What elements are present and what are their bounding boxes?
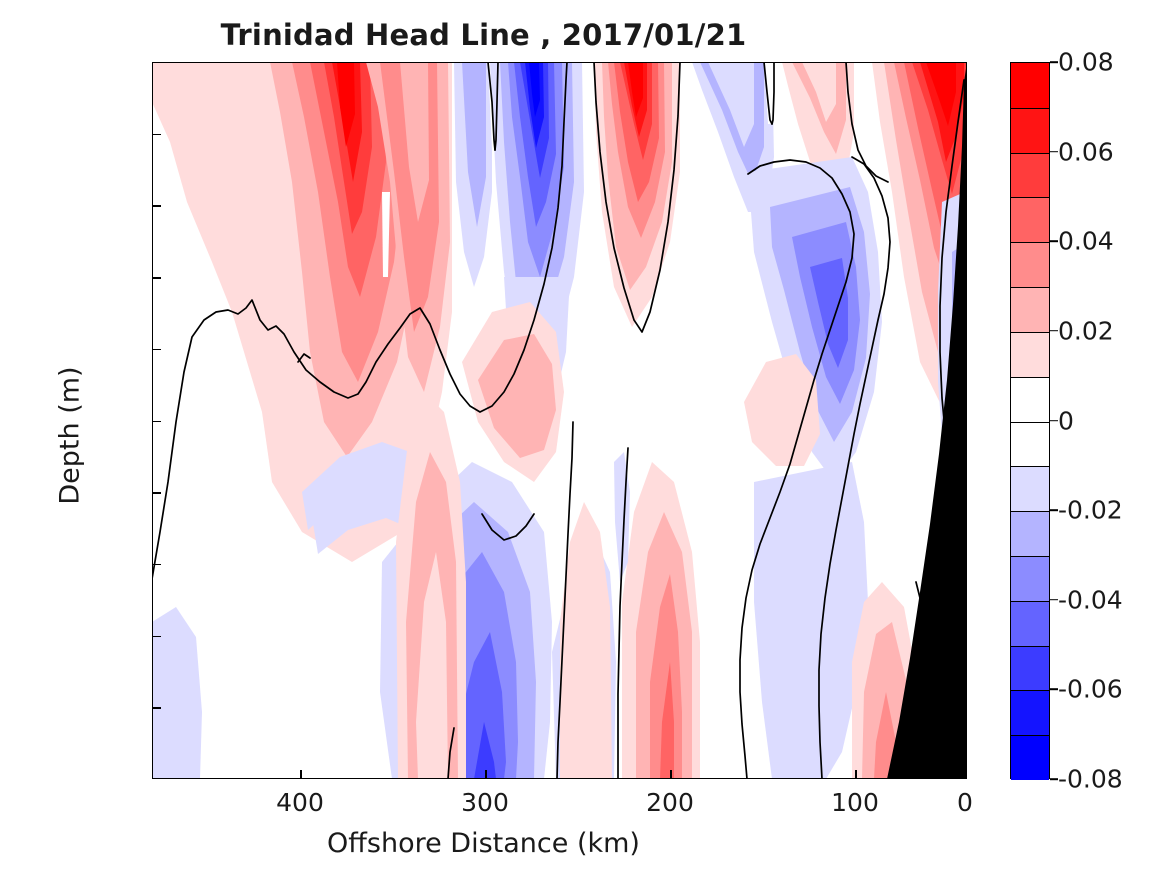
colorbar-tick-label: -0.02 (1058, 496, 1123, 525)
colorbar-band-divider (1011, 556, 1049, 557)
colorbar-tick-mark (1050, 330, 1058, 332)
page-title: Trinidad Head Line , 2017/01/21 (0, 18, 967, 52)
colorbar-tick-label: -0.06 (1058, 675, 1123, 704)
y-tick-mark (152, 134, 161, 136)
y-tick-mark (152, 277, 161, 279)
colorbar-band (1011, 601, 1049, 646)
colorbar-tick-mark (1050, 151, 1058, 153)
plot-frame (152, 62, 967, 779)
colorbar-band-divider (1011, 242, 1049, 243)
colorbar-band (1011, 197, 1049, 242)
colorbar-band-divider (1011, 646, 1049, 647)
colorbar-band-divider (1011, 153, 1049, 154)
x-tick-label: 300 (461, 788, 509, 817)
colorbar-band-divider (1011, 690, 1049, 691)
x-tick-label: 100 (831, 788, 879, 817)
colorbar-band-divider (1011, 108, 1049, 109)
y-tick-mark (152, 707, 161, 709)
colorbar-tick-mark (1050, 509, 1058, 511)
colorbar-band-divider (1011, 377, 1049, 378)
colorbar-band-divider (1011, 422, 1049, 423)
x-tick-mark (855, 770, 857, 779)
colorbar-band (1011, 332, 1049, 377)
colorbar-tick-mark (1050, 599, 1058, 601)
colorbar-tick-label: -0.08 (1058, 765, 1123, 794)
colorbar-tick-label: -0.04 (1058, 585, 1123, 614)
colorbar-tick-label: 0.06 (1058, 137, 1114, 166)
y-tick-mark (152, 564, 161, 566)
colorbar-band (1011, 153, 1049, 198)
colorbar-tick-label: 0.02 (1058, 316, 1114, 345)
colorbar-tick-label: 0.08 (1058, 48, 1114, 77)
colorbar-tick-mark (1050, 240, 1058, 242)
x-tick-mark (300, 770, 302, 779)
colorbar-band (1011, 422, 1049, 467)
colorbar-band-divider (1011, 197, 1049, 198)
y-tick-mark (152, 421, 161, 423)
colorbar-band (1011, 287, 1049, 332)
colorbar-tick-mark (1050, 420, 1058, 422)
x-tick-label: 0 (957, 788, 973, 817)
colorbar-band-divider (1011, 287, 1049, 288)
x-tick-label: 200 (646, 788, 694, 817)
colorbar-tick-mark (1050, 778, 1058, 780)
colorbar-tick-mark (1050, 61, 1058, 63)
colorbar-band (1011, 646, 1049, 691)
figure-canvas: Trinidad Head Line , 2017/01/21 (0, 0, 1167, 875)
colorbar-band (1011, 556, 1049, 601)
x-tick-mark (485, 770, 487, 779)
colorbar-band (1011, 242, 1049, 287)
colorbar-tick-mark (1050, 689, 1058, 691)
colorbar-band (1011, 690, 1049, 735)
x-tick-mark (670, 770, 672, 779)
colorbar-band (1011, 735, 1049, 780)
colorbar-band-divider (1011, 332, 1049, 333)
plot-area (152, 62, 967, 779)
colorbar-band-divider (1011, 466, 1049, 467)
colorbar-band-divider (1011, 735, 1049, 736)
colorbar-band (1011, 108, 1049, 153)
colorbar-tick-label: 0.04 (1058, 227, 1114, 256)
x-tick-label: 400 (276, 788, 324, 817)
y-tick-mark (152, 349, 161, 351)
y-tick-mark (152, 205, 161, 207)
colorbar-band (1011, 511, 1049, 556)
colorbar-band (1011, 377, 1049, 422)
colorbar-band-divider (1011, 511, 1049, 512)
y-tick-mark (152, 636, 161, 638)
y-axis-label: Depth (m) (55, 306, 86, 566)
colorbar (1010, 62, 1050, 779)
colorbar-band-divider (1011, 601, 1049, 602)
colorbar-band (1011, 466, 1049, 511)
y-tick-mark (152, 492, 161, 494)
x-axis-label: Offshore Distance (km) (0, 828, 967, 859)
colorbar-band (1011, 63, 1049, 108)
colorbar-tick-label: 0 (1058, 406, 1074, 435)
